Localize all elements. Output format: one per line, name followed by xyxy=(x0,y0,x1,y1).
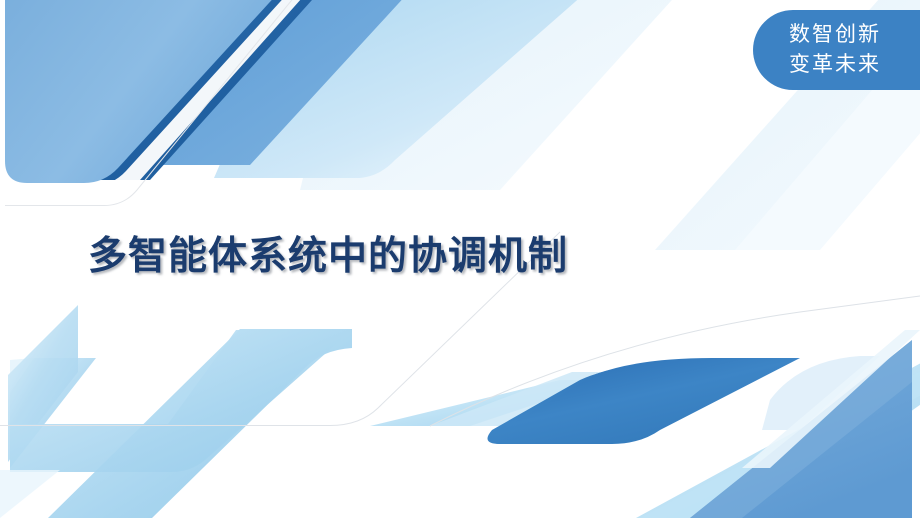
bottom-centre-pale-sweep xyxy=(10,330,352,470)
bottom-left-lowest-wedge xyxy=(0,470,60,518)
top-diagonal-band-faint xyxy=(300,0,690,190)
tagline-badge: 数智创新 变革未来 xyxy=(753,10,920,90)
bottom-centre-pale-wedge-2 xyxy=(430,372,640,426)
bottom-pale-long-band xyxy=(10,330,352,472)
bottom-right-thin-sliver xyxy=(742,330,920,468)
bottom-centre-pale-wedge xyxy=(370,380,608,426)
tagline-line-1: 数智创新 xyxy=(789,20,881,50)
bottom-right-blue-wedge xyxy=(690,340,912,518)
bottom-left-main-wing xyxy=(48,329,352,518)
bottom-right-pale-streak-2 xyxy=(640,340,920,518)
top-left-blue-panel xyxy=(5,0,290,183)
bottom-left-wing-upper xyxy=(212,332,330,360)
page-title: 多智能体系统中的协调机制 xyxy=(88,231,568,283)
top-panel-white-sliver xyxy=(5,0,318,200)
bottom-left-fold-wing xyxy=(10,328,350,470)
bottom-left-pale-wing xyxy=(58,332,330,518)
bottom-left-pale-chevron xyxy=(10,358,96,468)
lens-top-hairline xyxy=(430,296,920,426)
bottom-left-chevron-tip xyxy=(10,358,34,392)
mid-horizontal-hairline xyxy=(5,0,300,206)
bottom-centre-blue-lens xyxy=(488,359,753,444)
top-diagonal-band-navy xyxy=(72,0,330,180)
bottom-centre-blue-lens-core xyxy=(492,358,800,444)
bottom-right-blue-wedge-edge xyxy=(690,340,912,518)
presentation-cover-slide: 数智创新 变革未来 多智能体系统中的协调机制 xyxy=(0,0,920,518)
tagline-line-2: 变革未来 xyxy=(789,50,881,80)
top-diagonal-band-mid xyxy=(150,0,420,165)
bottom-right-pale-streak xyxy=(636,320,920,518)
bottom-left-outer-triangle xyxy=(8,305,78,462)
bottom-right-soft-blob xyxy=(762,356,880,430)
top-diagonal-band-pale xyxy=(214,0,600,178)
